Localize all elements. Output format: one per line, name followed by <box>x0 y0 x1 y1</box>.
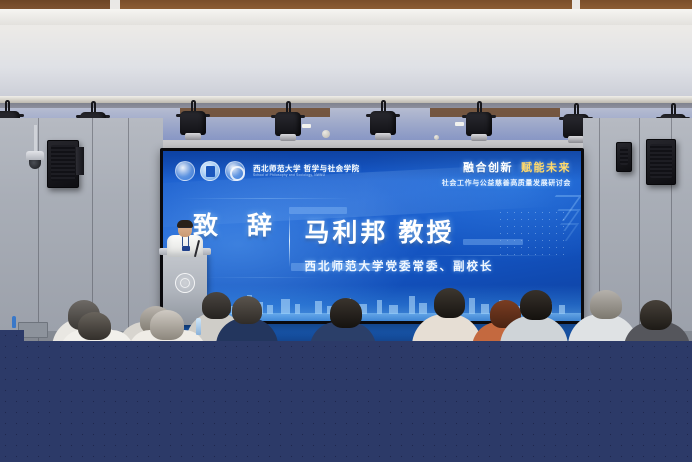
camera-mount-pole <box>34 125 37 153</box>
light-lens <box>568 136 584 143</box>
stage-light <box>275 101 301 145</box>
smoke-detector-icon <box>434 135 439 140</box>
stage-light <box>466 101 492 145</box>
headline-part-2: 赋能未来 <box>521 162 571 174</box>
speaker-badge <box>182 246 190 251</box>
speaker-lanyard <box>182 236 189 246</box>
skyline-building <box>531 297 537 314</box>
stage-light <box>370 100 396 144</box>
light-lens <box>185 133 201 140</box>
skyline-building <box>499 300 504 314</box>
screen-title-zone: 致 辞 马利邦教授 西北师范大学党委常委、副校长 <box>193 213 563 274</box>
ceiling-downlight <box>455 122 464 126</box>
podium <box>163 253 207 325</box>
wall-panel-seam <box>599 118 600 341</box>
ceiling-downlight <box>302 124 311 128</box>
screenshot-root: 西北师范大学 哲学与社会学院 School of Philosophy and … <box>0 0 692 462</box>
speaker-grille <box>620 147 628 165</box>
speaker-person <box>166 221 204 256</box>
speaker-glasses-icon <box>179 227 191 230</box>
conference-photo: 西北师范大学 哲学与社会学院 School of Philosophy and … <box>0 0 692 341</box>
decor-line <box>181 198 351 199</box>
logo-mark-1-icon <box>175 161 195 181</box>
speaker-name-row: 马利邦教授 <box>304 213 493 249</box>
skyline-water-reflection <box>163 313 581 321</box>
skyline-building <box>221 300 227 314</box>
speaker-bracket <box>76 147 84 175</box>
wall-baseboard <box>0 331 163 341</box>
light-body <box>180 111 206 135</box>
skyline-building <box>377 300 382 314</box>
wall-panel-seam <box>128 118 129 341</box>
speaker-grille <box>650 144 672 178</box>
subheadline: 社会工作与公益慈善高质量发展研讨会 <box>442 178 571 188</box>
screen-headline-block: 融合创新赋能未来 社会工作与公益慈善高质量发展研讨会 <box>442 159 571 188</box>
stage-floor <box>160 324 584 341</box>
skyline-building <box>469 298 475 314</box>
podium-university-emblem <box>175 273 195 293</box>
decor-line <box>203 277 323 278</box>
led-screen-frame: 西北师范大学 哲学与社会学院 School of Philosophy and … <box>160 148 584 324</box>
skyline-building <box>409 296 415 314</box>
wall-speaker-right-small <box>616 142 632 172</box>
led-screen: 西北师范大学 哲学与社会学院 School of Philosophy and … <box>163 151 581 321</box>
light-lens <box>280 134 296 141</box>
light-lens <box>375 133 391 140</box>
speaker-name: 马利邦 <box>304 219 388 247</box>
ceiling-wood-trim-center <box>120 0 572 9</box>
logo-mark-2-icon <box>200 161 220 181</box>
headline-part-1: 融合创新 <box>463 162 513 174</box>
wall-panel-seam <box>92 118 93 341</box>
light-body <box>370 111 396 135</box>
skyline-building <box>281 299 290 314</box>
university-name-en: School of Philosophy and Sociology, NWNU <box>253 174 360 177</box>
screen-logo-row: 西北师范大学 哲学与社会学院 School of Philosophy and … <box>175 161 360 181</box>
background-fill-bottom <box>0 341 692 462</box>
skyline-building <box>247 295 252 314</box>
skyline-building <box>345 298 351 314</box>
ceiling-wood-trim-left <box>0 0 110 9</box>
speaker-affiliation: 西北师范大学党委常委、副校长 <box>304 258 493 274</box>
speaker-grille <box>51 145 75 181</box>
speaker-title: 教授 <box>398 219 454 247</box>
university-name-block: 西北师范大学 哲学与社会学院 School of Philosophy and … <box>253 165 360 177</box>
title-divider <box>289 215 291 267</box>
section-label: 致 辞 <box>193 213 283 241</box>
wall-speaker-right <box>646 139 676 185</box>
smoke-detector-icon <box>322 130 330 138</box>
ceiling-lip <box>0 9 692 25</box>
stage-light <box>180 100 206 144</box>
skyline-graphic <box>163 285 581 321</box>
speaker-block: 马利邦教授 西北师范大学党委常委、副校长 <box>304 213 493 274</box>
headline-row: 融合创新赋能未来 <box>442 159 571 175</box>
logo-mark-3-icon <box>225 161 245 181</box>
light-lens <box>471 134 487 141</box>
light-body <box>466 112 492 136</box>
university-name-cn: 西北师范大学 哲学与社会学院 <box>253 165 360 173</box>
title-row: 致 辞 马利邦教授 西北师范大学党委常委、副校长 <box>193 213 563 274</box>
ceiling-wood-trim-right <box>580 0 692 9</box>
wall-speaker-left <box>47 140 79 188</box>
wall-panel-seam <box>639 118 640 341</box>
wall-baseboard <box>583 331 692 341</box>
light-body <box>275 112 301 136</box>
